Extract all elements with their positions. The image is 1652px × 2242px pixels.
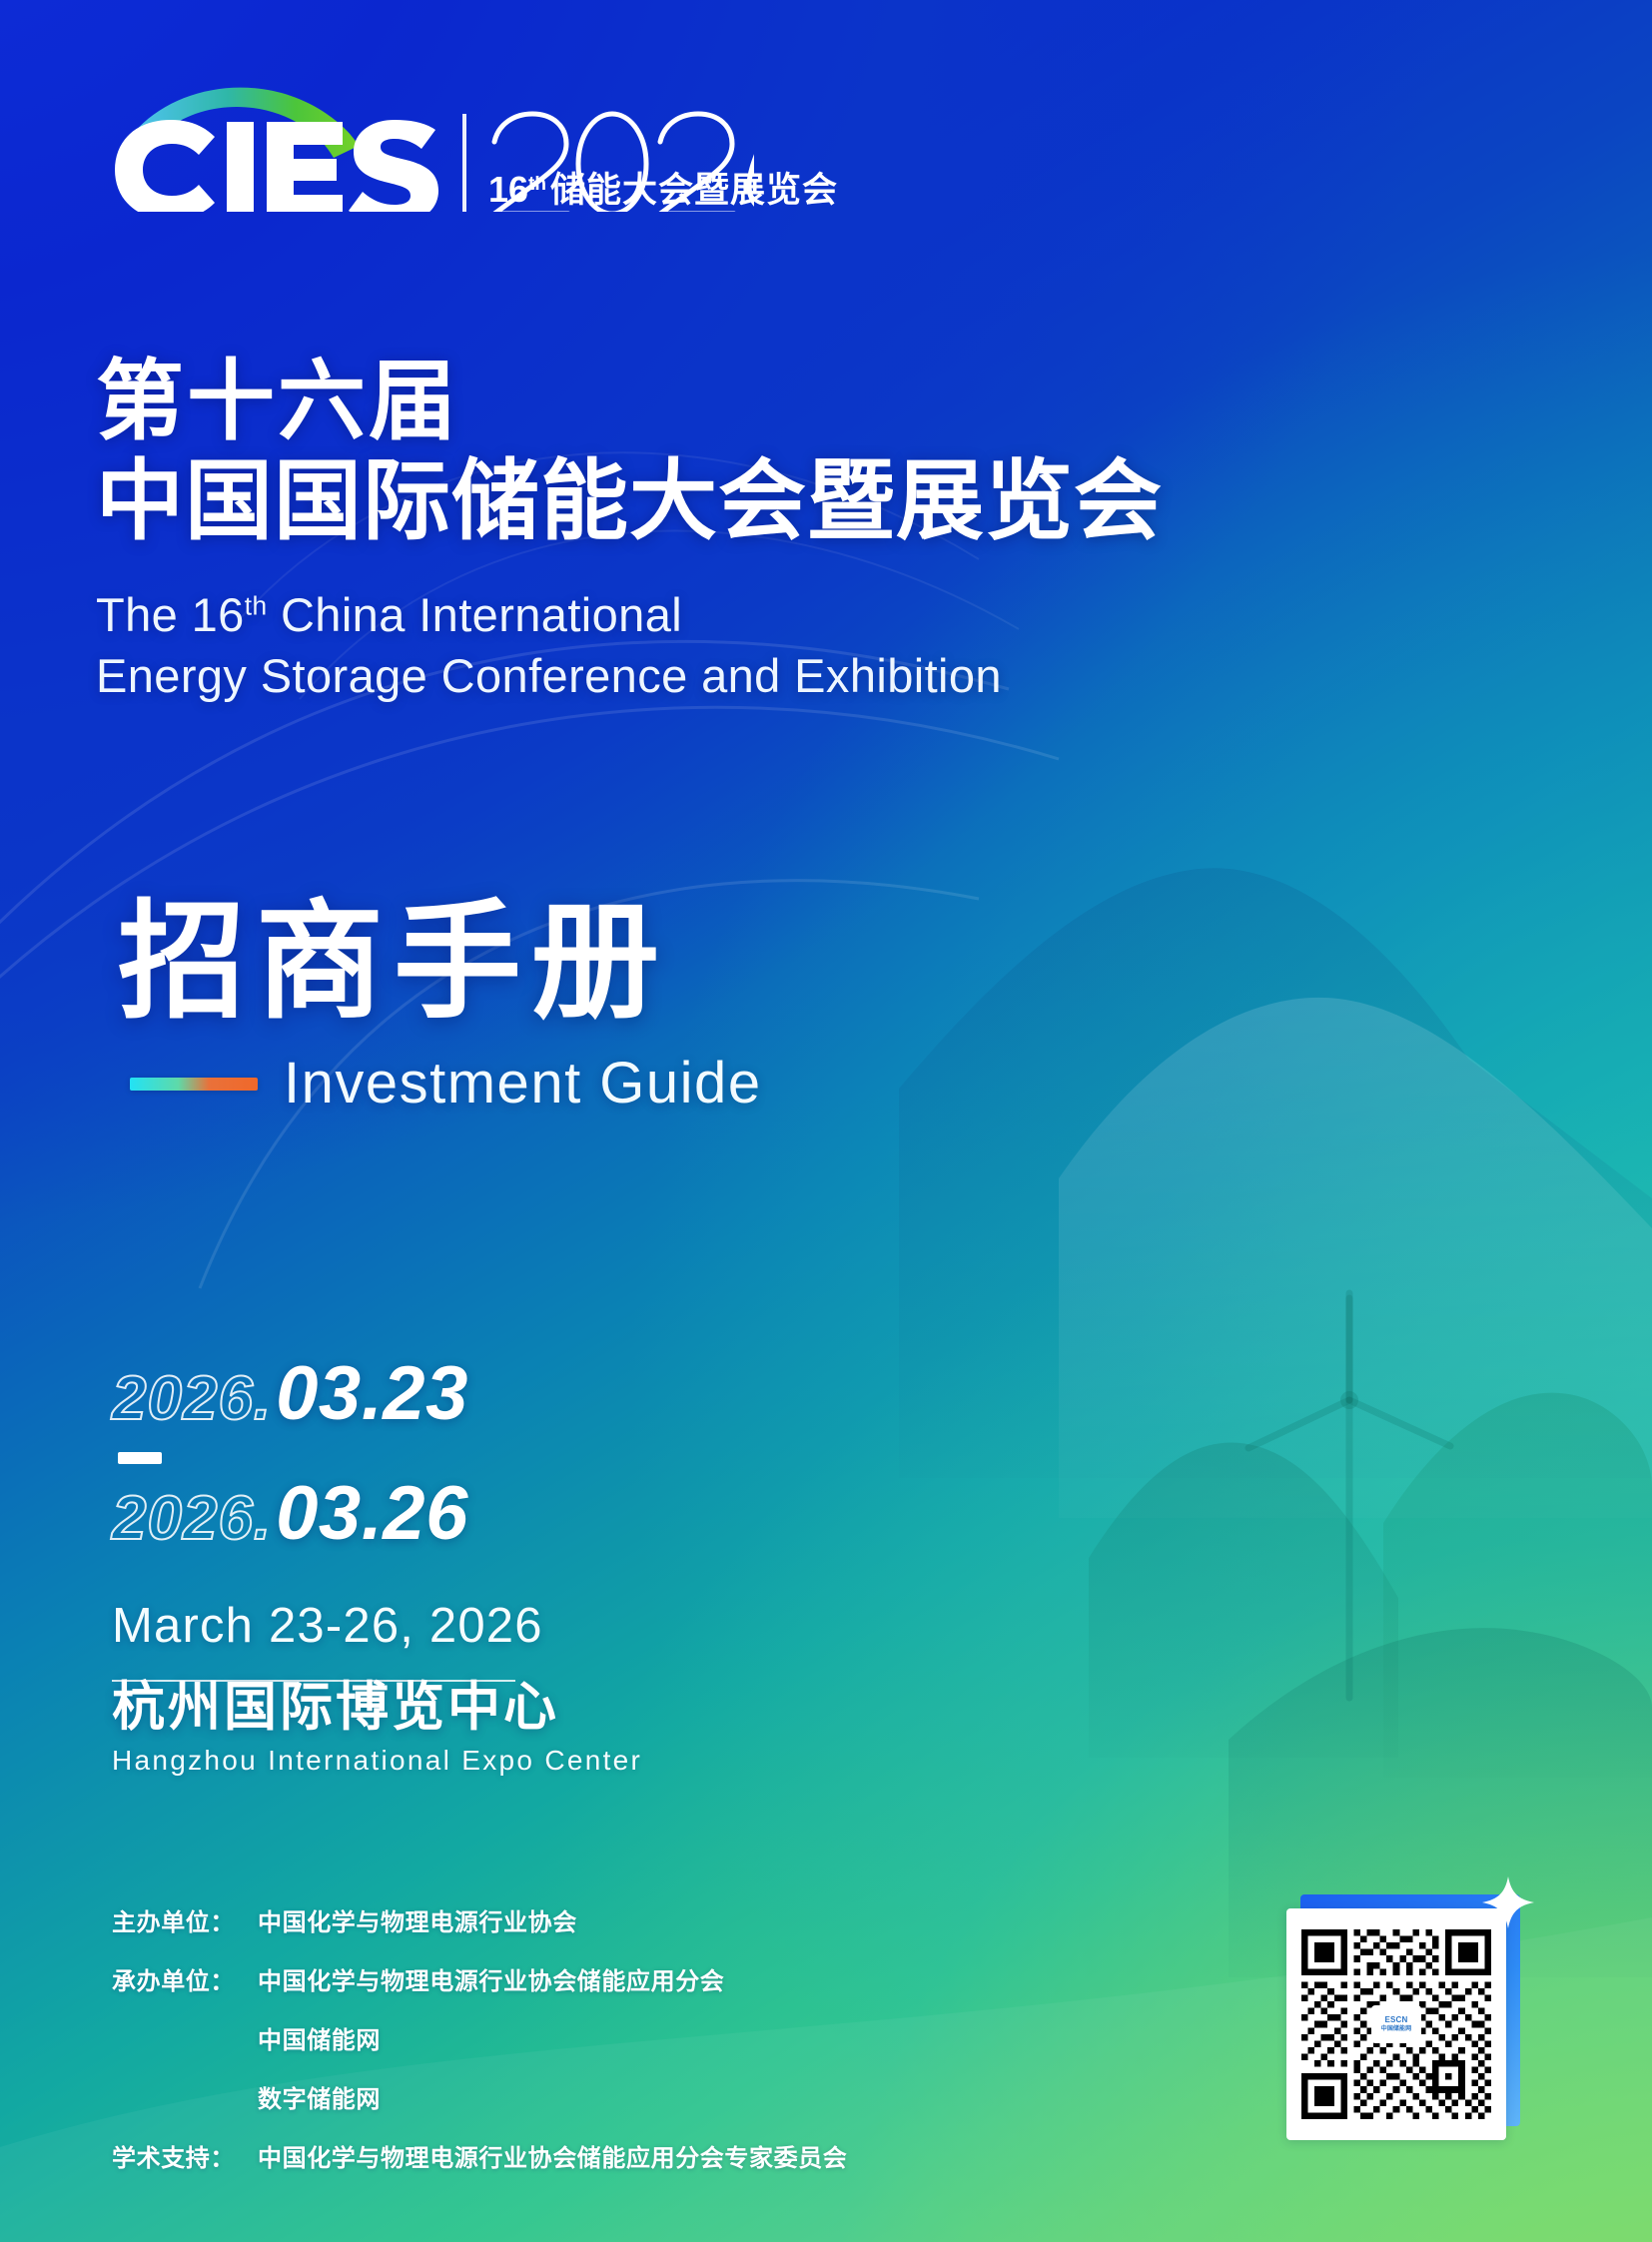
qr-center-logo: ESCN 中国储能网 [1371,2005,1421,2043]
credit-organizer-sub-1: 中国储能网 [258,2020,1011,2055]
qr-logo-brand: ESCN [1384,2016,1407,2024]
date-end-month-day: 03.26 [276,1476,468,1552]
credit-row-organizer: 承办单位： 中国化学与物理电源行业协会储能应用分会 [112,1961,1011,1996]
date-start-year: 2026. [112,1368,272,1430]
date-start-month-day: 03.23 [276,1356,468,1432]
main-title-block: 第十六届 中国国际储能大会暨展览会 The 16th China Interna… [96,352,1163,706]
logo-divider [462,114,466,212]
credit-organizer-sub-2: 数字储能网 [258,2079,1011,2114]
qr-logo-brand-cn: 中国储能网 [1381,2026,1412,2032]
qr-code-image[interactable]: ESCN 中国储能网 [1301,1929,1491,2119]
logo-wordmark-cies [115,120,438,212]
guide-subtitle-row: Investment Guide [130,1055,762,1113]
guide-title-en: Investment Guide [284,1055,762,1113]
decor-turbine-hub [1340,1391,1358,1409]
date-block: 2026. 03.23 2026. 03.26 March 23-26, 202… [112,1356,543,1682]
decor-wind-turbine [1248,1293,1450,1698]
date-start-row: 2026. 03.23 [112,1356,543,1442]
credit-label-host: 主办单位： [112,1902,244,1937]
guide-title-cn: 招商手册 [118,899,762,1027]
decor-mountain-far [899,868,1652,1478]
title-en-line1-prefix: The 16 [96,588,245,641]
investment-guide-block: 招商手册 Investment Guide [118,899,762,1113]
title-en-line2: Energy Storage Conference and Exhibition [96,645,1163,706]
credit-row-host: 主办单位： 中国化学与物理电源行业协会 [112,1902,1011,1937]
title-cn-line1: 第十六届 [96,352,1163,451]
title-en-line1-suffix: China International [267,588,682,641]
title-en-block: The 16th China International Energy Stor… [96,584,1163,706]
date-range-dash [118,1452,162,1464]
qr-white-card: ESCN 中国储能网 [1286,1908,1506,2140]
cies-logo-lockup: 16 th 储能大会暨展览会 [95,62,754,212]
logo-subtitle-cn: 储能大会暨展览会 [550,162,838,213]
venue-name-cn: 杭州国际博览中心 [112,1678,642,1737]
date-en-label: March 23-26, 2026 [112,1598,543,1654]
title-cn-line2: 中国国际储能大会暨展览会 [96,451,1163,551]
decor-hill-right [1383,1393,1652,1778]
credit-value-academic: 中国化学与物理电源行业协会储能应用分会专家委员会 [258,2138,847,2173]
qr-code-block[interactable]: ESCN 中国储能网 [1286,1894,1524,2144]
decor-hill-left [1089,1443,1398,1758]
date-end-year: 2026. [112,1488,272,1550]
venue-name-en: Hangzhou International Expo Center [112,1745,642,1777]
logo-subtitle-ordinal: 16 [488,169,528,211]
credit-label-academic: 学术支持： [112,2138,244,2173]
credit-row-academic: 学术支持： 中国化学与物理电源行业协会储能应用分会专家委员会 [112,2138,1011,2173]
credit-value-host: 中国化学与物理电源行业协会 [258,1902,577,1937]
date-end-row: 2026. 03.26 [112,1476,543,1562]
title-en-line1: The 16th China International [96,584,1163,645]
title-en-line1-ordinal-suffix: th [245,590,268,620]
poster-root: 16 th 储能大会暨展览会 第十六届 中国国际储能大会暨展览会 The 16t… [0,0,1652,2242]
credits-block: 主办单位： 中国化学与物理电源行业协会 承办单位： 中国化学与物理电源行业协会储… [112,1902,1011,2173]
logo-subtitle-ordinal-suffix: th [528,174,546,196]
venue-block: 杭州国际博览中心 Hangzhou International Expo Cen… [112,1678,642,1777]
sparkle-icon [1478,1872,1538,1932]
credit-value-organizer: 中国化学与物理电源行业协会储能应用分会 [258,1961,724,1996]
guide-accent-bar [130,1078,258,1091]
decor-mountain-mid [1059,998,1652,1518]
credit-label-organizer: 承办单位： [112,1961,244,1996]
